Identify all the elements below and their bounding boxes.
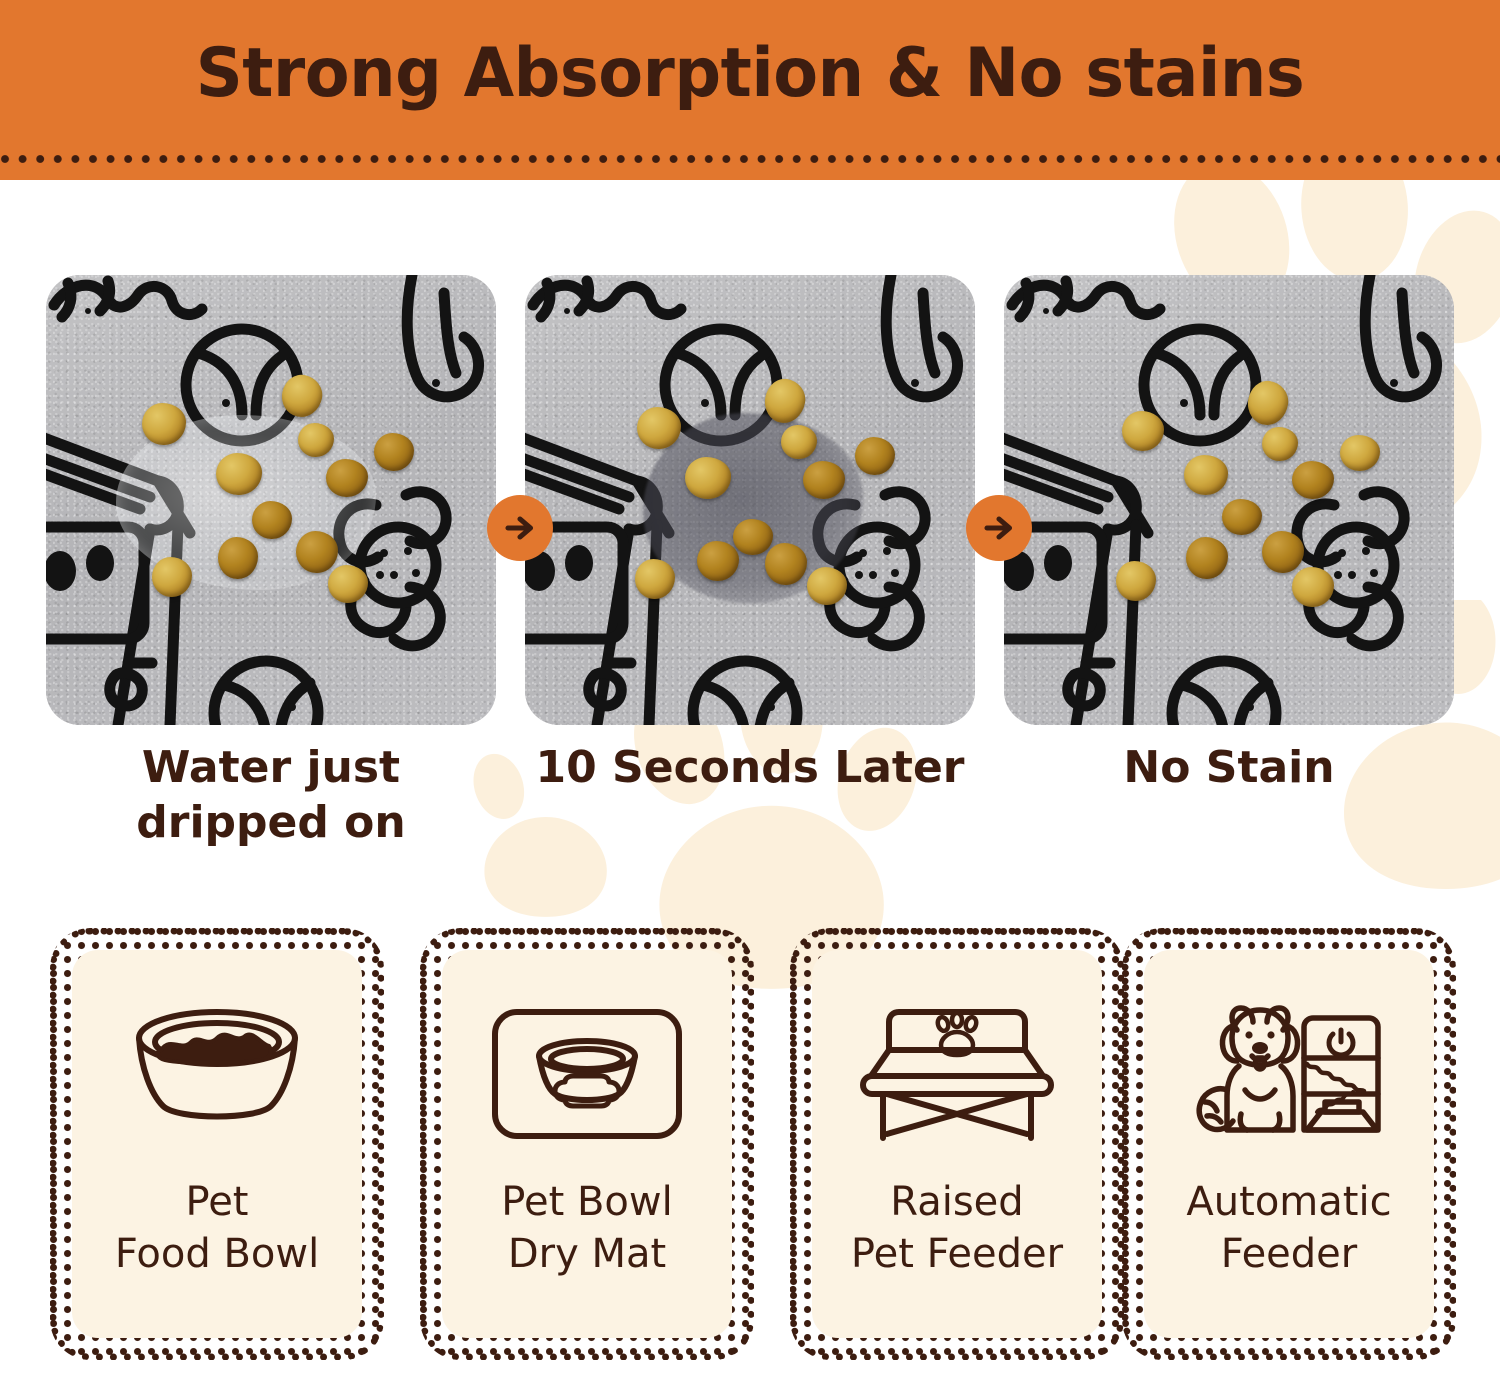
step-arrow-1 bbox=[487, 495, 553, 561]
dog-food-bowl-icon bbox=[117, 984, 317, 1164]
header-banner: Strong Absorption & No stains bbox=[0, 0, 1500, 180]
demo-caption-ten-seconds: 10 Seconds Later bbox=[525, 740, 975, 795]
use-case-card-automatic-feeder[interactable]: Automatic Feeder bbox=[1122, 928, 1456, 1360]
mat-surface bbox=[46, 275, 496, 725]
bowl-on-mat-icon bbox=[487, 984, 687, 1164]
demo-photo-no-stain bbox=[1004, 275, 1454, 725]
mat-doodle-art bbox=[1004, 275, 1454, 725]
use-case-label: Pet Food Bowl bbox=[72, 1176, 362, 1280]
card-body: Raised Pet Feeder bbox=[812, 950, 1102, 1338]
demo-photo-water-dripped bbox=[46, 275, 496, 725]
demo-caption-water-dripped: Water just dripped on bbox=[46, 740, 496, 851]
absorption-demo-row bbox=[0, 275, 1500, 725]
card-body: Pet Food Bowl bbox=[72, 950, 362, 1338]
demo-caption-no-stain: No Stain bbox=[1004, 740, 1454, 795]
raised-feeder-stand-icon bbox=[857, 984, 1057, 1164]
arrow-right-icon bbox=[981, 510, 1017, 546]
use-case-label: Raised Pet Feeder bbox=[812, 1176, 1102, 1280]
page-title: Strong Absorption & No stains bbox=[30, 34, 1470, 113]
use-case-card-raised-pet-feeder[interactable]: Raised Pet Feeder bbox=[790, 928, 1124, 1360]
dotted-divider-icon bbox=[0, 154, 1500, 166]
card-body: Pet Bowl Dry Mat bbox=[442, 950, 732, 1338]
dog-with-automatic-feeder-icon bbox=[1189, 984, 1389, 1164]
infographic-page: Strong Absorption & No stains bbox=[0, 0, 1500, 1393]
use-case-card-pet-food-bowl[interactable]: Pet Food Bowl bbox=[50, 928, 384, 1360]
use-case-label: Automatic Feeder bbox=[1144, 1176, 1434, 1280]
card-body: Automatic Feeder bbox=[1144, 950, 1434, 1338]
use-case-label: Pet Bowl Dry Mat bbox=[442, 1176, 732, 1280]
mat-surface bbox=[1004, 275, 1454, 725]
use-case-card-pet-bowl-dry-mat[interactable]: Pet Bowl Dry Mat bbox=[420, 928, 754, 1360]
mat-surface bbox=[525, 275, 975, 725]
use-case-cards-row: Pet Food Bowl Pet Bowl Dry Mat bbox=[0, 928, 1500, 1368]
demo-photo-ten-seconds bbox=[525, 275, 975, 725]
step-arrow-2 bbox=[966, 495, 1032, 561]
arrow-right-icon bbox=[502, 510, 538, 546]
